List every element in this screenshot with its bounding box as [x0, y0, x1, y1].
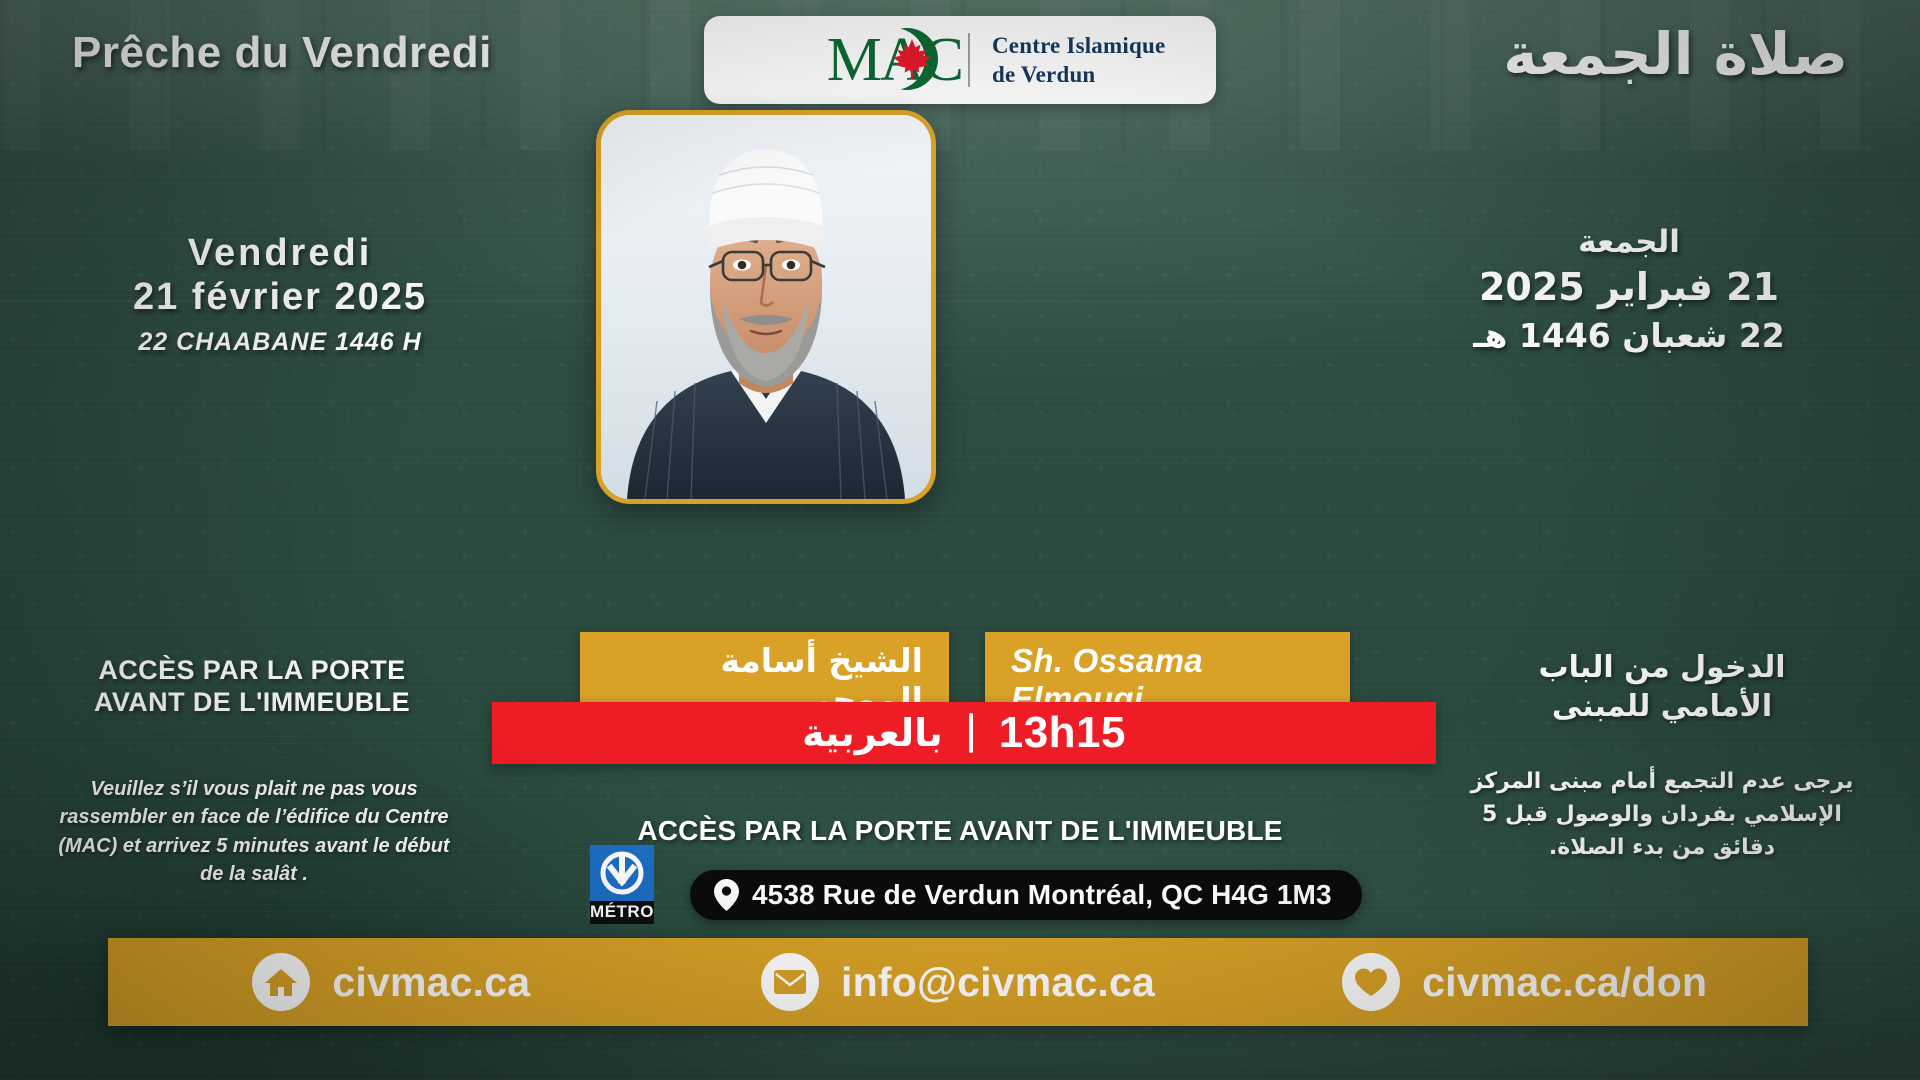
hijri-date-fr: 22 CHAABANE 1446 H [60, 328, 500, 357]
page-title-fr: Prêche du Vendredi [72, 28, 592, 78]
home-icon [252, 953, 310, 1011]
metro-label: MÉTRO [590, 901, 654, 924]
contact-item-donate[interactable]: civmac.ca/don [1241, 953, 1808, 1011]
contact-bar: civmac.ca info@civmac.ca civmac.ca/don [108, 938, 1808, 1026]
weekday-ar: الجمعة [1394, 222, 1864, 262]
friday-prayer-poster: Prêche du Vendredi صلاة الجمعة MAC Centr… [0, 0, 1920, 1080]
access-fr-line2: AVANT DE L'IMMEUBLE [52, 687, 452, 719]
gathering-note-fr: Veuillez s’il vous plait ne pas vous ras… [44, 775, 464, 889]
mac-logo-mark: MAC [704, 16, 968, 104]
gregorian-date-ar: 21 فبراير 2025 [1394, 262, 1864, 313]
access-ar-line2: الأمامي للمبنى [1452, 687, 1872, 726]
donate-label: civmac.ca/don [1422, 959, 1707, 1006]
prayer-time: 13h15 [999, 708, 1126, 758]
stm-metro-glyph [599, 850, 645, 896]
gathering-note-ar: يرجى عدم التجمع أمام مبنى المركز الإسلام… [1452, 765, 1872, 864]
khutbah-language: بالعربية [802, 711, 943, 755]
maple-leaf-icon [892, 38, 932, 80]
email-label: info@civmac.ca [841, 959, 1155, 1006]
metro-badge: MÉTRO [590, 845, 662, 924]
address-pill[interactable]: 4538 Rue de Verdun Montréal, QC H4G 1M3 [690, 870, 1362, 920]
map-pin-icon [714, 879, 739, 911]
website-label: civmac.ca [332, 959, 530, 1006]
page-title-ar: صلاة الجمعة [1328, 20, 1848, 88]
access-note-center: ACCÈS PAR LA PORTE AVANT DE L'IMMEUBLE [600, 815, 1320, 847]
speaker-portrait [596, 110, 936, 504]
access-note-fr: ACCÈS PAR LA PORTE AVANT DE L'IMMEUBLE [52, 655, 452, 719]
hijri-date-ar: 22 شعبان 1446 هـ [1394, 314, 1864, 359]
logo-name-line1: Centre Islamique [992, 31, 1165, 60]
date-block-fr: Vendredi 21 février 2025 22 CHAABANE 144… [60, 232, 500, 357]
date-block-ar: الجمعة 21 فبراير 2025 22 شعبان 1446 هـ [1394, 222, 1864, 358]
stm-metro-icon [590, 845, 654, 901]
prayer-time-bar: بالعربية 13h15 [492, 702, 1436, 764]
gregorian-date-fr: 21 février 2025 [60, 275, 500, 320]
speaker-photo-illustration [601, 115, 931, 499]
logo-center-name: Centre Islamique de Verdun [970, 31, 1165, 90]
contact-item-email[interactable]: info@civmac.ca [675, 953, 1242, 1011]
address-text: 4538 Rue de Verdun Montréal, QC H4G 1M3 [752, 879, 1332, 911]
access-note-ar: الدخول من الباب الأمامي للمبنى [1452, 648, 1872, 726]
mail-icon [761, 953, 819, 1011]
logo-name-line2: de Verdun [992, 60, 1165, 89]
mac-logo: MAC Centre Islamique de Verdun [704, 16, 1216, 104]
access-ar-line1: الدخول من الباب [1452, 648, 1872, 687]
access-fr-line1: ACCÈS PAR LA PORTE [52, 655, 452, 687]
heart-icon [1342, 953, 1400, 1011]
time-bar-divider [969, 713, 973, 753]
contact-item-website[interactable]: civmac.ca [108, 953, 675, 1011]
weekday-fr: Vendredi [60, 232, 500, 275]
